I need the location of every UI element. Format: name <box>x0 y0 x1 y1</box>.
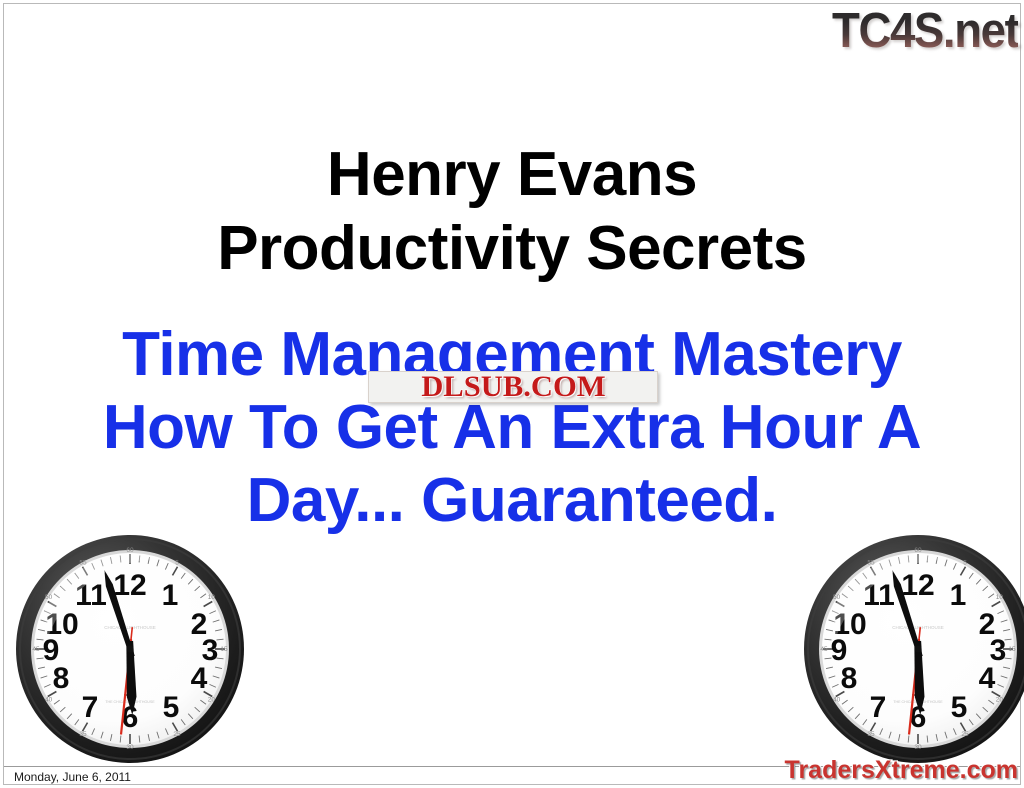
brand-logo: TC4S.net <box>832 5 1018 57</box>
svg-text:7: 7 <box>870 691 887 724</box>
svg-text:10: 10 <box>208 594 216 601</box>
svg-text:40: 40 <box>45 697 53 704</box>
svg-text:60: 60 <box>126 547 134 554</box>
wall-clock-left: 60 5 10 15 20 25 30 35 40 45 50 55 12 1 … <box>14 533 246 765</box>
presentation-slide: TC4S.net TC4S.net Henry Evans Productivi… <box>0 0 1024 788</box>
svg-text:45: 45 <box>820 646 828 653</box>
svg-text:25: 25 <box>961 731 969 738</box>
svg-text:12: 12 <box>901 569 934 602</box>
svg-text:1: 1 <box>162 579 179 612</box>
footer-date: Monday, June 6, 2011 <box>14 769 131 785</box>
subtitle-line-3: Day... Guaranteed. <box>0 464 1024 537</box>
svg-text:15: 15 <box>220 646 228 653</box>
clock-face-brand: CHICAGO LIGHTHOUSE <box>892 625 944 630</box>
svg-text:12: 12 <box>113 569 146 602</box>
svg-text:4: 4 <box>979 662 996 695</box>
svg-text:20: 20 <box>208 697 216 704</box>
svg-text:1: 1 <box>950 579 967 612</box>
svg-text:4: 4 <box>191 662 208 695</box>
svg-text:20: 20 <box>996 697 1004 704</box>
svg-text:5: 5 <box>963 560 967 567</box>
title-line-1: Henry Evans <box>0 138 1024 212</box>
svg-text:35: 35 <box>867 731 875 738</box>
svg-text:10: 10 <box>996 594 1004 601</box>
svg-text:30: 30 <box>914 744 922 751</box>
svg-text:7: 7 <box>82 691 99 724</box>
wall-clock-right: 60 5 10 15 20 25 30 35 40 45 50 55 12 1 … <box>802 533 1024 765</box>
center-watermark: DLSUB.COM <box>368 371 658 403</box>
svg-text:35: 35 <box>79 731 87 738</box>
svg-text:55: 55 <box>867 560 875 567</box>
svg-text:45: 45 <box>32 646 40 653</box>
svg-text:15: 15 <box>1008 646 1016 653</box>
svg-text:5: 5 <box>175 560 179 567</box>
brand-logo-container: TC4S.net TC4S.net <box>810 4 1020 56</box>
svg-text:40: 40 <box>833 697 841 704</box>
title-line-2: Productivity Secrets <box>0 212 1024 286</box>
page-title: Henry Evans Productivity Secrets <box>0 138 1024 286</box>
svg-text:55: 55 <box>79 560 87 567</box>
center-watermark-text: DLSUB.COM <box>421 372 605 402</box>
svg-text:5: 5 <box>163 691 180 724</box>
svg-text:60: 60 <box>914 547 922 554</box>
svg-text:30: 30 <box>126 744 134 751</box>
svg-text:5: 5 <box>951 691 968 724</box>
svg-text:25: 25 <box>173 731 181 738</box>
clock-face-brand: CHICAGO LIGHTHOUSE <box>104 625 156 630</box>
footer-watermark: TradersXtreme.com <box>785 756 1018 784</box>
page-subtitle: Time Management Mastery How To Get An Ex… <box>0 318 1024 537</box>
